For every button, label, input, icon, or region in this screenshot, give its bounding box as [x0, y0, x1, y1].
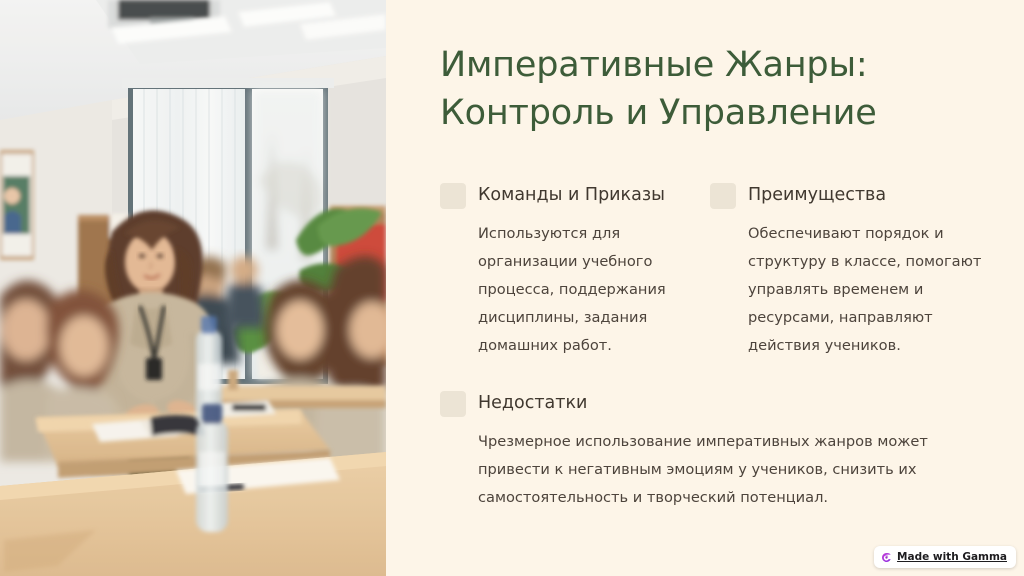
section-commands-heading: Команды и Приказы: [478, 182, 665, 208]
section-commands-body: Используются для организации учебного пр…: [440, 220, 710, 360]
section-commands: Команды и Приказы Используются для орган…: [440, 182, 710, 360]
content-blocks: Команды и Приказы Используются для орган…: [440, 182, 1000, 512]
column-advantages: Преимущества Обеспечивают порядок и стру…: [710, 182, 1000, 360]
slide: Императивные Жанры: Контроль и Управлени…: [0, 0, 1024, 576]
section-advantages-body: Обеспечивают порядок и структуру в класс…: [710, 220, 1000, 360]
classroom-discussion-photo: [0, 0, 386, 576]
content-panel: Императивные Жанры: Контроль и Управлени…: [386, 0, 1024, 576]
square-bullet-icon: [710, 183, 736, 209]
page-title: Императивные Жанры: Контроль и Управлени…: [440, 42, 980, 137]
section-disadvantages-heading: Недостатки: [478, 390, 587, 416]
section-disadvantages: Недостатки Чрезмерное использование импе…: [440, 390, 1000, 512]
section-advantages-heading: Преимущества: [748, 182, 886, 208]
two-column-row: Команды и Приказы Используются для орган…: [440, 182, 1000, 360]
section-disadvantages-header: Недостатки: [440, 390, 1000, 417]
gamma-logo-icon: [881, 552, 892, 563]
made-with-gamma-label: Made with Gamma: [897, 551, 1007, 563]
square-bullet-icon: [440, 391, 466, 417]
section-advantages-header: Преимущества: [710, 182, 1000, 209]
square-bullet-icon: [440, 183, 466, 209]
section-disadvantages-body: Чрезмерное использование императивных жа…: [440, 428, 1000, 512]
column-commands: Команды и Приказы Используются для орган…: [440, 182, 710, 360]
made-with-gamma-badge[interactable]: Made with Gamma: [874, 546, 1016, 568]
section-commands-header: Команды и Приказы: [440, 182, 710, 209]
section-advantages: Преимущества Обеспечивают порядок и стру…: [710, 182, 1000, 360]
